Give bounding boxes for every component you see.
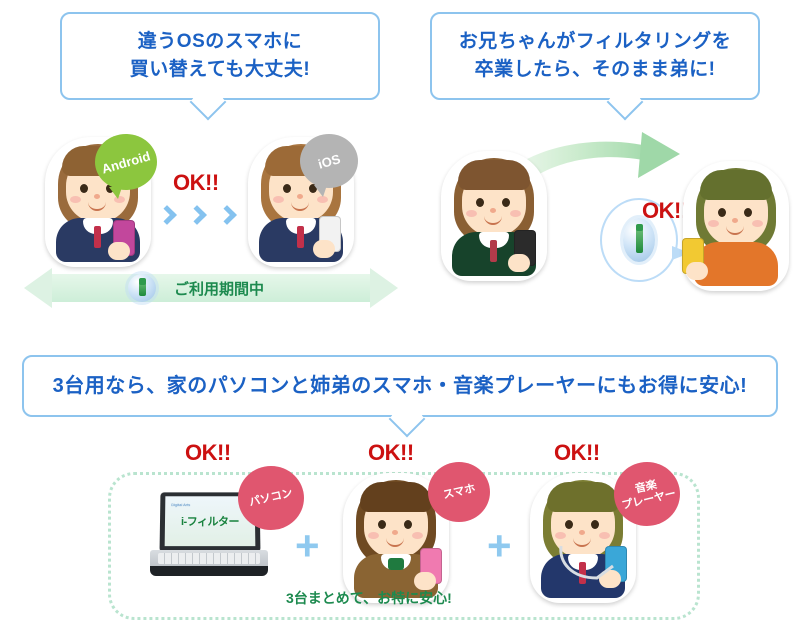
chevron-right-icon [157,205,177,225]
three-devices-note: 3台まとめて、お特に安心! [286,588,452,608]
nose-icon [392,530,398,535]
cheek-right [599,532,610,539]
speech-bubble-handover-text: お兄ちゃんがフィルタリングを 卒業したら、そのまま弟に! [459,28,732,83]
chevron-right-icon [187,205,207,225]
eye-left-icon [565,520,573,529]
cheek-left [368,532,379,539]
older-brother-with-phone [446,156,542,276]
badge-device-music-player-label: 音楽 プレーヤー [617,475,676,512]
bubble-tail-icon [607,84,644,121]
eye-right-icon [744,208,752,217]
badge-device-pc: パソコン [238,466,304,530]
cheek-left [70,196,81,203]
speech-bubble-os-switch-text: 違うOSのスマホに 買い替えても大丈夫! [130,28,310,83]
nose-icon [732,218,738,223]
fringe-icon [458,160,530,190]
fringe-icon [700,170,772,200]
i-dot [139,278,146,285]
usage-period-label: ご利用期間中 [174,278,264,299]
eye-left-icon [283,184,291,193]
nose-icon [490,208,496,213]
ribbon-tie-icon [388,558,404,570]
eye-right-icon [502,198,510,207]
cheek-left [273,196,284,203]
arrow-head-left-icon [24,268,52,308]
ok-label-handover: OK!! [642,198,688,224]
cheek-left [466,210,477,217]
arrow-head-right-icon [370,268,398,308]
eye-left-icon [378,520,386,529]
bubble-nib-icon [314,185,327,197]
bubble-nib-icon [109,187,122,199]
product-logo: i-フィルター [181,513,239,529]
laptop-front-edge [150,566,268,576]
necktie-icon [490,240,497,262]
speech-bubble-handover: お兄ちゃんがフィルタリングを 卒業したら、そのまま弟に! [430,12,760,100]
hand-icon [108,242,130,260]
badge-device-smartphone: スマホ [428,462,490,522]
ok-label-os-switch: OK!! [173,170,219,196]
ribbon-tie-icon [94,226,101,248]
hand-icon [313,240,335,258]
younger-brother-with-phone [688,166,784,286]
plus-sign-2: + [487,525,512,567]
bubble-tail-icon [190,84,227,121]
hand-icon [686,262,708,280]
product-sublogo: Digital Arts [171,502,190,507]
chevron-right-icon [217,205,237,225]
os-bubble-android: Android [95,134,157,190]
ok-label-device-3: OK!! [554,440,600,466]
i-filter-license-icon [623,218,655,262]
os-bubble-ios: iOS [300,134,358,188]
badge-device-pc-label: パソコン [248,487,294,509]
usage-period-arrow-bar: ご利用期間中 [24,268,398,308]
ok-label-device-2: OK!! [368,440,414,466]
speech-bubble-os-switch: 違うOSのスマホに 買い替えても大丈夫! [60,12,380,100]
bubble-tail-icon [389,401,426,438]
badge-device-smartphone-label: スマホ [442,482,477,502]
eye-left-icon [476,198,484,207]
sweater-body [694,242,778,286]
eye-left-icon [80,184,88,193]
cheek-left [555,532,566,539]
panel-handover: OK!! [430,120,800,315]
laptop-keyboard-icon [158,553,260,564]
i-filter-icon [128,274,156,302]
plus-sign-1: + [295,525,320,567]
cheek-right [752,220,763,227]
speech-bubble-three-devices: 3台用なら、家のパソコンと姉弟のスマホ・音楽プレーヤーにもお得に安心! [22,355,778,417]
nose-icon [297,194,303,199]
fringe-icon [360,482,432,512]
ok-label-device-1: OK!! [185,440,231,466]
ribbon-tie-icon [297,226,304,248]
nose-icon [579,530,585,535]
eye-right-icon [404,520,412,529]
cheek-right [412,532,423,539]
badge-device-music-player: 音楽 プレーヤー [614,462,680,526]
cheek-left [708,220,719,227]
os-bubble-ios-label: iOS [316,151,342,172]
os-bubble-android-label: Android [100,148,152,176]
eye-left-icon [718,208,726,217]
i-dot [636,224,643,231]
nose-icon [94,194,100,199]
cheek-right [317,196,328,203]
fringe-icon [547,482,619,512]
cheek-right [510,210,521,217]
eye-right-icon [591,520,599,529]
earphone-cable-icon [557,544,617,588]
speech-bubble-three-devices-text: 3台用なら、家のパソコンと姉弟のスマホ・音楽プレーヤーにもお得に安心! [53,372,748,401]
promo-page: 違うOSのスマホに 買い替えても大丈夫! お兄ちゃんがフィルタリングを 卒業した… [0,0,800,636]
hand-icon [508,254,530,272]
